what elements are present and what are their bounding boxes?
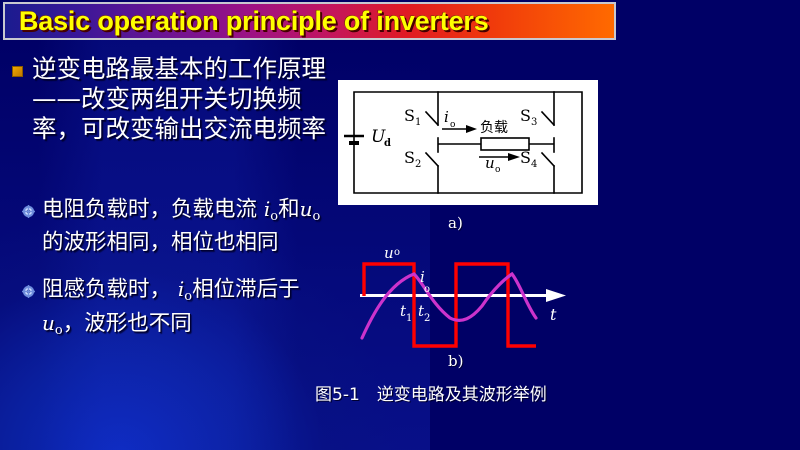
- gear-bullet-icon: [22, 205, 35, 218]
- inverter-circuit-svg: U d S 1 S 2 S 3 S 4 i o u o 负载: [338, 80, 598, 205]
- waveform-label-t1-sub: 1: [406, 313, 412, 324]
- bullet-level1-label: 逆变电路最基本的工作原理 ——改变两组开关切换频率，可改变输出交流电频率: [32, 54, 327, 144]
- bullet-level2-item-inductive: 阻感负载时， io相位滞后于uo，波形也不同: [22, 276, 327, 344]
- label-uo-sub: o: [495, 165, 500, 175]
- current-subscript: o: [270, 209, 278, 224]
- label-s2-sub: 2: [415, 159, 421, 170]
- waveform-label-io-sub: o: [424, 284, 430, 295]
- voltage-subscript: o: [312, 209, 320, 224]
- label-uo: u: [485, 154, 495, 172]
- figure-caption: 图5-1 逆变电路及其波形举例: [315, 380, 547, 405]
- circuit-diagram-panel: U d S 1 S 2 S 3 S 4 i o u o 负载: [338, 80, 598, 205]
- label-s1-sub: 1: [415, 117, 421, 128]
- waveform-label-uo: u: [384, 244, 394, 262]
- figure-sublabel-a: a): [448, 214, 463, 232]
- voltage-symbol: u: [300, 197, 313, 221]
- waveform-label-uo-sub: o: [394, 247, 400, 258]
- label-s1: S: [404, 106, 415, 125]
- orange-square-bullet-icon: [12, 66, 23, 77]
- label-io-sub: o: [450, 120, 455, 130]
- slide-title-bar: Basic operation principle of inverters: [3, 2, 616, 40]
- waveform-label-t2-sub: 2: [424, 313, 430, 324]
- label-s2: S: [404, 148, 415, 167]
- switch-s1-blade: [426, 112, 438, 125]
- bullet-level2-item-resistive: 电阻负载时，负载电流 io和uo的波形相同，相位也相同: [22, 196, 327, 256]
- output-waveform-svg: u o i o t 1 t 2 t: [360, 238, 620, 356]
- page-title: Basic operation principle of inverters: [19, 6, 489, 37]
- switch-s2-blade: [426, 153, 438, 166]
- voltage-subscript: o: [55, 323, 63, 338]
- gear-bullet-icon: [22, 285, 35, 298]
- figure-sublabel-b: b): [448, 352, 463, 370]
- switch-s3-blade: [542, 112, 554, 125]
- current-arrow-io: [442, 125, 477, 133]
- current-subscript: o: [184, 289, 192, 304]
- label-load: 负载: [480, 120, 508, 136]
- label-ud-sub: d: [384, 138, 391, 149]
- switch-s4-blade: [542, 153, 554, 166]
- label-s3: S: [520, 106, 531, 125]
- slide-canvas: Basic operation principle of inverters 逆…: [0, 0, 800, 450]
- bullet-level2-label-inductive: 阻感负载时， io相位滞后于uo，波形也不同: [42, 276, 327, 344]
- bullet-level1-item: 逆变电路最基本的工作原理 ——改变两组开关切换频率，可改变输出交流电频率: [12, 54, 327, 144]
- waveform-diagram-panel: u o i o t 1 t 2 t: [360, 238, 620, 356]
- waveform-label-t: t: [550, 305, 557, 324]
- bullet-level2-label-resistive: 电阻负载时，负载电流 io和uo的波形相同，相位也相同: [42, 196, 327, 256]
- label-s4-sub: 4: [531, 159, 537, 170]
- label-io: i: [444, 108, 449, 126]
- voltage-symbol: u: [42, 311, 55, 335]
- label-s4: S: [520, 148, 531, 167]
- current-exponential-wave: [362, 274, 536, 338]
- label-s3-sub: 3: [531, 117, 537, 128]
